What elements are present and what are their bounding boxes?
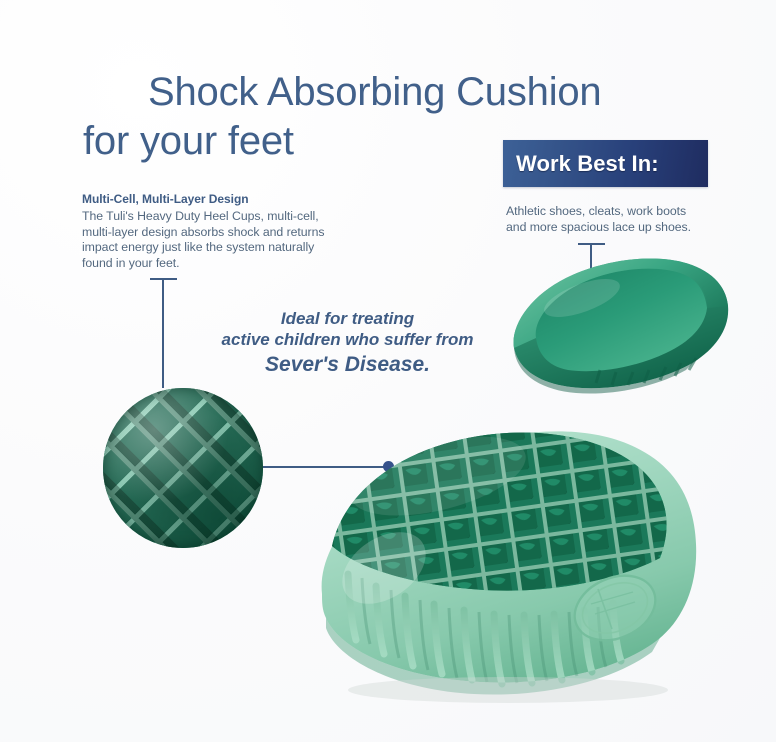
- multi-cell-lattice-closeup: [103, 388, 263, 548]
- callout-line-4: found in your feet.: [82, 256, 180, 270]
- callout-line-1: The Tuli's Heavy Duty Heel Cups, multi-c…: [82, 209, 319, 223]
- smooth-heel-cup-side-view: [500, 252, 750, 402]
- banner-title: Work Best In:: [503, 151, 659, 177]
- work-best-in-banner: Work Best In:: [503, 140, 708, 187]
- magnifier-rim: [103, 388, 263, 548]
- page-title-line-1: Shock Absorbing Cushion: [148, 68, 601, 117]
- statement-line-2: active children who suffer from: [205, 329, 490, 350]
- sever-disease-statement: Ideal for treating active children who s…: [205, 308, 490, 378]
- callout-line-2: multi-layer design absorbs shock and ret…: [82, 225, 325, 239]
- callout-heading: Multi-Cell, Multi-Layer Design: [82, 192, 340, 207]
- banner-line-2: and more spacious lace up shoes.: [506, 220, 691, 234]
- banner-description: Athletic shoes, cleats, work boots and m…: [506, 203, 721, 235]
- callout-line-3: impact energy just like the system natur…: [82, 240, 314, 254]
- multi-cell-callout: Multi-Cell, Multi-Layer Design The Tuli'…: [82, 192, 340, 271]
- leader-line-1-stem: [162, 278, 164, 388]
- statement-line-3: Sever's Disease.: [205, 351, 490, 378]
- callout-paragraph: The Tuli's Heavy Duty Heel Cups, multi-c…: [82, 209, 340, 271]
- cup-main-ground-shadow: [348, 677, 668, 703]
- statement-line-1: Ideal for treating: [205, 308, 490, 329]
- banner-line-1: Athletic shoes, cleats, work boots: [506, 204, 686, 218]
- page-title-line-2: for your feet: [83, 117, 294, 166]
- waffle-heel-cup-main-view: [288, 418, 718, 708]
- infographic-canvas: Shock Absorbing Cushion for your feet Mu…: [0, 0, 776, 742]
